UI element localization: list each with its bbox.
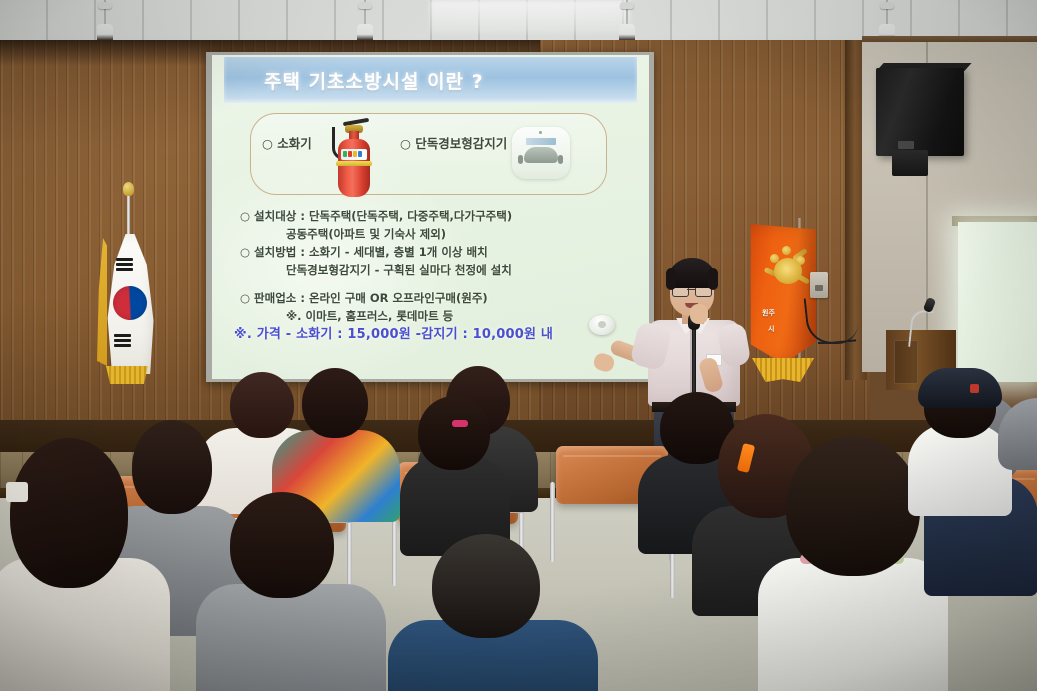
audience-member (908, 368, 1012, 498)
audience-member (998, 398, 1037, 518)
city-emblem-icon (770, 246, 806, 290)
audience-member (196, 492, 386, 691)
slide-bullet: ○ 설치방법 : 소화기 - 세대별, 층별 1개 이상 배치 (240, 243, 640, 261)
wall-speaker (876, 68, 964, 156)
lecture-hall-photo: 주택 기초소방시설 이란 ? ○ 소화기 ○ 단독경보형감지기 (0, 0, 1037, 691)
flag-fringe-bottom (106, 366, 148, 384)
slide-price-line: ※. 가격 - 소화기 : 15,000원 -감지기 : 10,000원 내 (234, 323, 553, 342)
smoke-detector-graphic (512, 121, 570, 183)
ceremonial-flag-fringe (752, 358, 814, 382)
wall-outlet (810, 272, 828, 298)
held-smoke-detector (589, 315, 615, 337)
audience-member (272, 368, 400, 508)
audience-member (388, 534, 598, 691)
audience-member (400, 396, 510, 546)
speaker-bracket (892, 150, 928, 176)
flag-finial-icon (123, 182, 134, 196)
bright-window (958, 222, 1037, 382)
slide-title-band: 주택 기초소방시설 이란 ? (224, 57, 637, 103)
slide-bullet: 단독경보형감지기 - 구획된 실마다 천정에 설치 (240, 261, 640, 279)
slide-bullet: ○ 설치대상 : 단독주택(단독주택, 다중주택,다가구주택) (240, 207, 640, 225)
slide-label-extinguisher: ○ 소화기 (262, 133, 312, 152)
korean-flag (88, 182, 172, 387)
gooseneck-microphone (908, 296, 942, 346)
speaker-logo-icon (898, 141, 914, 149)
fire-extinguisher-graphic (330, 117, 378, 199)
ceremonial-flag-text-2: 시 (768, 324, 774, 334)
slide-title: 주택 기초소방시설 이란 ? (264, 67, 484, 94)
slide-label-detector: ○ 단독경보형감지기 (400, 133, 507, 152)
ceremonial-flag-cloth: 원주 시 (748, 224, 816, 364)
slide-bullet-list: ○ 설치대상 : 단독주택(단독주택, 다중주택,다가구주택) 공동주택(아파트… (240, 207, 640, 325)
slide-bullet: ○ 판매업소 : 온라인 구매 OR 오프라인구매(원주) (240, 289, 640, 307)
presenter-right-hand (690, 304, 708, 324)
flag-fringe-left (97, 238, 107, 366)
projector-light-patch (430, 0, 630, 34)
audience-member (0, 438, 160, 691)
grey-cap-icon (998, 398, 1037, 470)
ceremonial-flag-text-1: 원주 (762, 308, 775, 318)
slide-bullet: 공동주택(아파트 및 기숙사 제외) (240, 225, 640, 243)
baseball-cap-icon (918, 368, 1002, 408)
projection-screen: 주택 기초소방시설 이란 ? ○ 소화기 ○ 단독경보형감지기 (212, 55, 649, 379)
